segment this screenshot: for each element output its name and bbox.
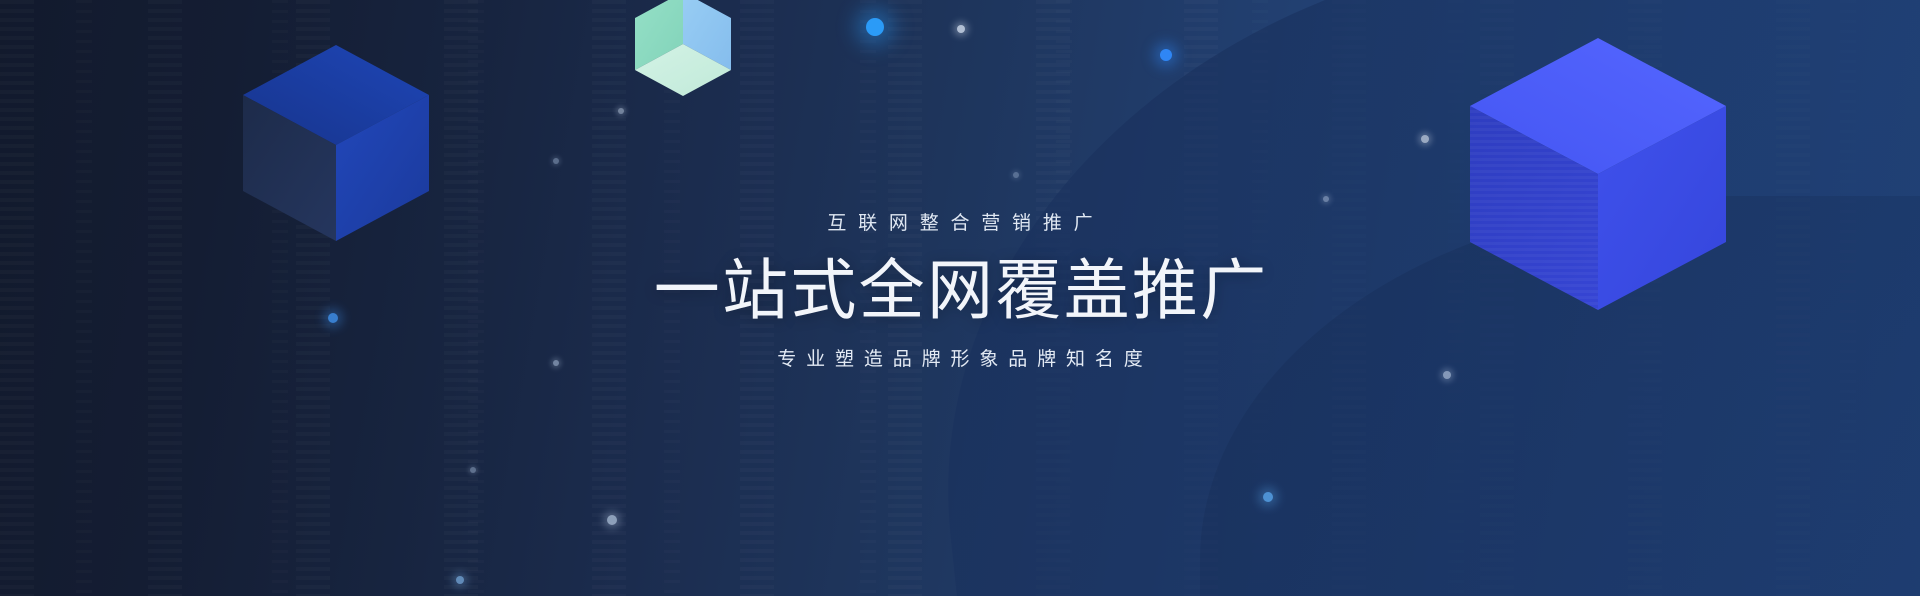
banner-eyebrow: 互联网整合营销推广	[0, 214, 1920, 233]
glow-dot-faint-f	[1443, 371, 1451, 379]
glow-dot-faint-d	[1323, 196, 1329, 202]
promo-banner: 互联网整合营销推广 一站式全网覆盖推广 专业塑造品牌形象品牌知名度	[0, 0, 1920, 596]
glow-dot-faint-b	[1421, 135, 1429, 143]
glow-dot-faint-a	[618, 108, 624, 114]
glow-dot-faint-j	[1013, 172, 1019, 178]
banner-subline: 专业塑造品牌形象品牌知名度	[0, 350, 1920, 369]
banner-copy-block: 互联网整合营销推广 一站式全网覆盖推广 专业塑造品牌形象品牌知名度	[0, 214, 1920, 369]
cube-dark-blue-left-icon	[243, 45, 429, 241]
glow-dot-blue-right	[1160, 49, 1172, 61]
glow-dot-small-white	[957, 25, 965, 33]
glow-dot-faint-g	[470, 467, 476, 473]
glow-dot-faint-c	[553, 158, 559, 164]
cube-teal-top-center-icon	[635, 0, 731, 96]
glow-dot-large-cyan	[866, 18, 884, 36]
glow-dot-faint-h	[607, 515, 617, 525]
banner-headline: 一站式全网覆盖推广	[0, 255, 1920, 326]
glow-dot-cyan-bottom	[1263, 492, 1273, 502]
glow-dot-faint-i	[456, 576, 464, 584]
